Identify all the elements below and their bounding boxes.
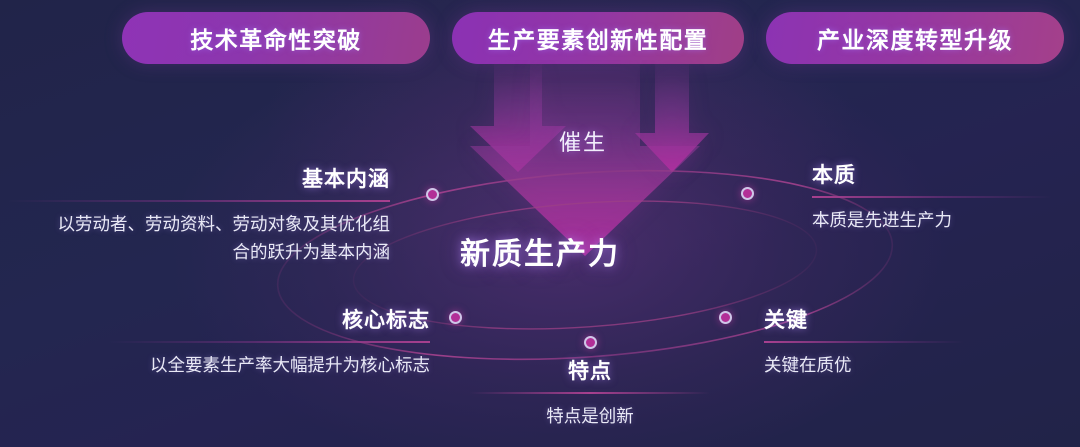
label-essence: 本质 本质是先进生产力 — [812, 159, 1052, 234]
label-divider — [764, 341, 964, 343]
infographic-canvas: 技术革命性突破 生产要素创新性配置 产业深度转型升级 — [0, 0, 1080, 447]
label-heading: 本质 — [812, 159, 1052, 189]
label-body-line-1: 本质是先进生产力 — [812, 206, 1052, 234]
label-body-line-1: 关键在质优 — [764, 351, 964, 379]
label-key-point: 关键 关键在质优 — [764, 304, 964, 379]
label-divider — [108, 341, 430, 343]
label-core-marker: 核心标志 以全要素生产率大幅提升为核心标志 — [108, 304, 430, 379]
label-body-line-1: 以劳动者、劳动资料、劳动对象及其优化组 — [8, 210, 390, 238]
orbit-dot-upper-left[interactable] — [426, 188, 439, 201]
label-heading: 核心标志 — [108, 304, 430, 334]
orbit-dot-bottom[interactable] — [584, 336, 597, 349]
label-divider — [470, 392, 710, 394]
orbit-dot-lower-right[interactable] — [719, 311, 732, 324]
label-body-line-1: 以全要素生产率大幅提升为核心标志 — [108, 351, 430, 379]
label-body-line-1: 特点是创新 — [470, 402, 710, 430]
label-divider — [8, 200, 390, 202]
orbit-dot-upper-right[interactable] — [741, 187, 754, 200]
label-heading: 特点 — [470, 355, 710, 385]
label-heading: 基本内涵 — [8, 163, 390, 193]
label-feature: 特点 特点是创新 — [470, 355, 710, 430]
label-divider — [812, 196, 1052, 198]
label-heading: 关键 — [764, 304, 964, 334]
orbit-dot-lower-left[interactable] — [449, 311, 462, 324]
label-body-line-2: 合的跃升为基本内涵 — [8, 238, 390, 266]
label-basic-connotation: 基本内涵 以劳动者、劳动资料、劳动对象及其优化组 合的跃升为基本内涵 — [8, 163, 390, 266]
